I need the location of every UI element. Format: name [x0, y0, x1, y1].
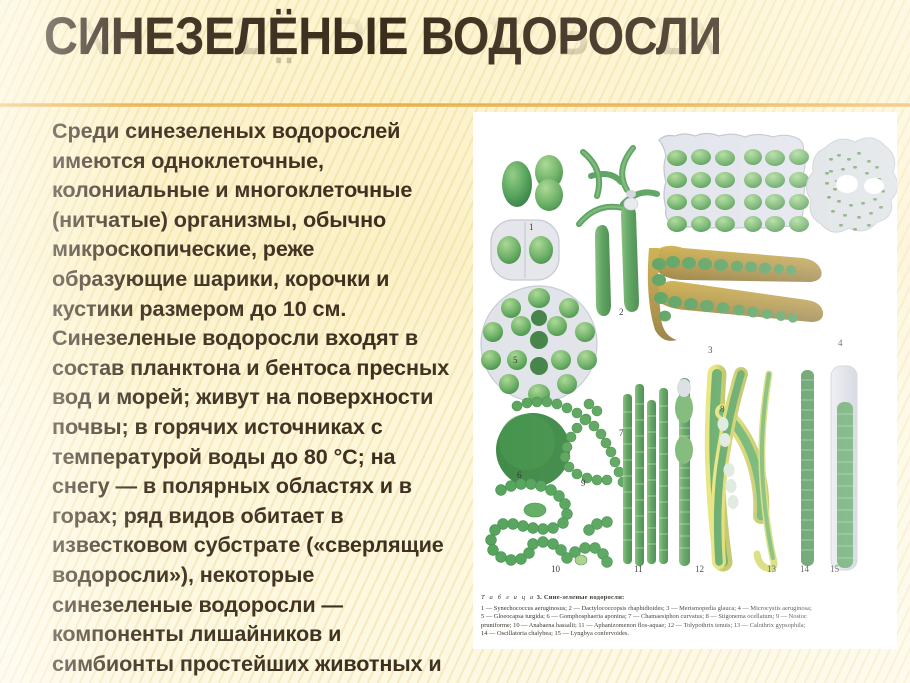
figure-number: 9 — [581, 478, 586, 488]
figure-number: 1 — [529, 222, 534, 232]
figure-number: 10 — [551, 564, 560, 574]
algae-plate-illustration — [473, 112, 897, 582]
caption-line: 1 — Synechococcus aeruginosus; 2 — Dacty… — [481, 605, 891, 613]
caption-label: Т а б л и ц а — [481, 594, 535, 601]
title-zone: СИНЕЗЕЛЁНЫЕ ВОДОРОСЛИ СИНЕЗЕЛЁНЫЕ ВОДОРО… — [0, 0, 910, 105]
caption-line: 5 — Gloeocapsa turgida; 6 — Gomphosphaer… — [481, 613, 891, 621]
caption-title: Сине-зеленые водоросли: — [544, 594, 625, 601]
figure-number: 14 — [800, 564, 809, 574]
caption-line: pruniforme; 10 — Anabaena hassalii; 11 —… — [481, 622, 891, 630]
caption-heading: Т а б л и ц а 3. Сине-зеленые водоросли: — [481, 594, 891, 601]
figure-number: 5 — [513, 355, 518, 365]
plate-caption: Т а б л и ц а 3. Сине-зеленые водоросли:… — [481, 594, 891, 639]
figure-number: 4 — [838, 338, 843, 348]
caption-number: 3. — [537, 594, 542, 601]
page-title-reflection: СИНЕЗЕЛЁНЫЕ ВОДОРОСЛИ — [44, 8, 722, 64]
caption-species-list: 1 — Synechococcus aeruginosus; 2 — Dacty… — [481, 605, 891, 639]
header-divider — [0, 103, 910, 107]
caption-line: 14 — Oscillatoria chalybea; 15 — Lyngbya… — [481, 630, 891, 638]
figure-number: 11 — [634, 564, 643, 574]
figure-number: 6 — [517, 470, 522, 480]
illustration-plate: 1 2 3 4 5 6 7 8 9 10 11 12 13 14 15 Т а … — [473, 112, 897, 649]
slide: СИНЕЗЕЛЁНЫЕ ВОДОРОСЛИ СИНЕЗЕЛЁНЫЕ ВОДОРО… — [0, 0, 910, 683]
figure-number: 15 — [830, 564, 839, 574]
figure-number: 2 — [619, 307, 624, 317]
body-paragraph-2: Синезеленые водоросли входят в состав пл… — [52, 323, 452, 678]
body-paragraph-1: Среди синезеленых водорослей имеются одн… — [52, 116, 452, 323]
figure-number: 8 — [720, 404, 725, 414]
body-text-column: Среди синезеленых водорослей имеются одн… — [52, 116, 452, 683]
figure-number: 13 — [767, 564, 776, 574]
figure-number: 3 — [708, 345, 713, 355]
figure-number: 12 — [695, 564, 704, 574]
figure-number: 7 — [619, 428, 624, 438]
